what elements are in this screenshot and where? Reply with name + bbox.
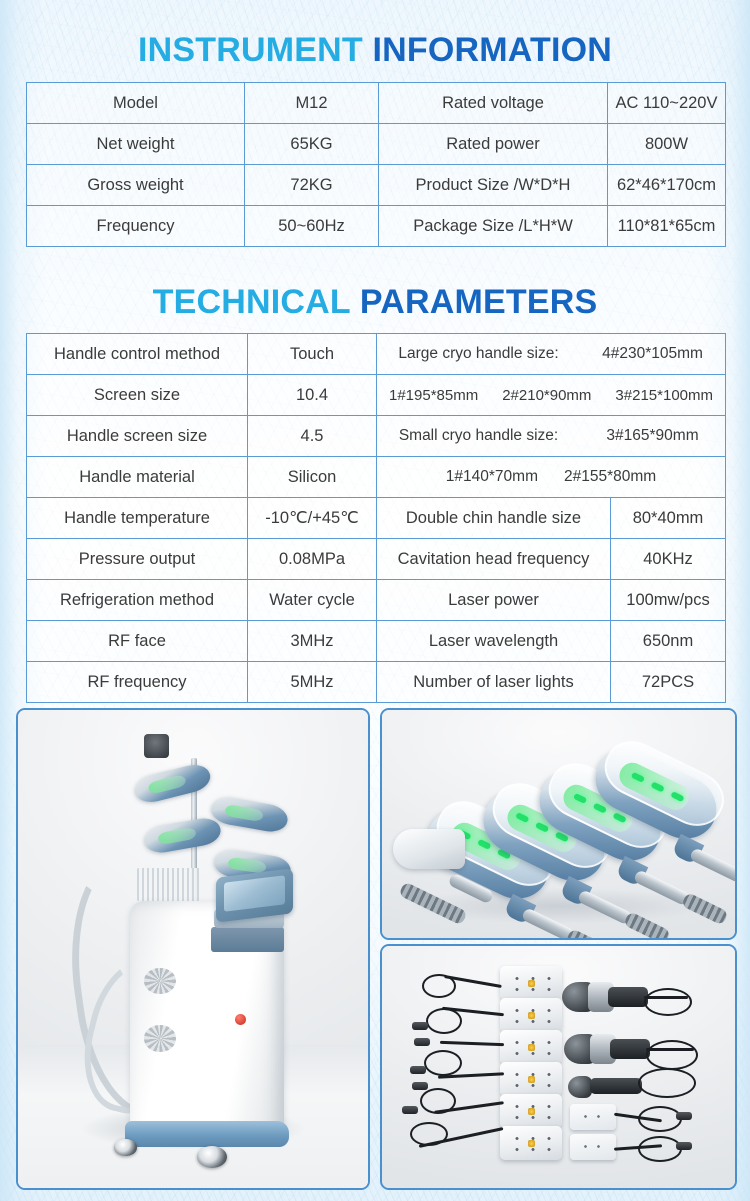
cavitation-probe-grip <box>608 987 648 1007</box>
tech-value-refrigeration-method: Water cycle <box>248 580 377 621</box>
tech-value-large-cryo-handle-size: 4#230*105mm <box>580 345 725 363</box>
tech-value-handle-material: Silicon <box>248 457 377 498</box>
instrument-value-frequency: 50~60Hz <box>245 206 379 247</box>
table-row: Handle screen size 4.5 Small cryo handle… <box>27 416 726 457</box>
tech-value-laser-wavelength: 650nm <box>611 621 726 662</box>
tech-large-cryo-size-1: 1#195*85mm <box>389 387 478 404</box>
pad-cable-coil-3 <box>424 1050 462 1076</box>
instrument-label-gross-weight: Gross weight <box>27 165 245 206</box>
tech-value-handle-temperature: -10℃/+45℃ <box>248 498 377 539</box>
pad-plug-3 <box>410 1066 426 1074</box>
instrument-value-gross-weight: 72KG <box>245 165 379 206</box>
tech-label-handle-material: Handle material <box>27 457 248 498</box>
lipo-laser-pad-4 <box>500 1062 562 1096</box>
rf-probe-grip <box>610 1039 650 1059</box>
small-probe-grip <box>590 1078 642 1094</box>
machine-front-panel <box>211 927 285 952</box>
tech-small-cryo-size-2: 2#155*80mm <box>564 468 656 486</box>
heading-word-secondary: PARAMETERS <box>360 283 598 321</box>
accessories-photo <box>380 944 737 1190</box>
table-row: Handle temperature -10℃/+45℃ Double chin… <box>27 498 726 539</box>
tech-value-double-chin-handle-size: 80*40mm <box>611 498 726 539</box>
instrument-label-package-size: Package Size /L*H*W <box>379 206 608 247</box>
small-pad-cable-coil-2 <box>638 1136 682 1162</box>
tech-label-laser-power: Laser power <box>377 580 611 621</box>
pad-plug-2 <box>414 1038 430 1046</box>
table-row: Refrigeration method Water cycle Laser p… <box>27 580 726 621</box>
tech-label-screen-size: Screen size <box>27 375 248 416</box>
tech-value-screen-size: 10.4 <box>248 375 377 416</box>
machine-screen-glass <box>223 875 285 912</box>
instrument-label-model: Model <box>27 83 245 124</box>
tech-label-small-cryo-handle-size: Small cryo handle size: <box>377 427 580 445</box>
table-row: Pressure output 0.08MPa Cavitation head … <box>27 539 726 580</box>
instrument-value-model: M12 <box>245 83 379 124</box>
tech-value-laser-power: 100mw/pcs <box>611 580 726 621</box>
small-pad-plug-1 <box>676 1112 692 1120</box>
lipo-laser-pad-1 <box>500 966 562 1000</box>
tech-value-handle-control-method: Touch <box>248 334 377 375</box>
pad-plug-1 <box>412 1022 428 1030</box>
machine-caster-front <box>197 1146 227 1168</box>
instrument-label-product-size: Product Size /W*D*H <box>379 165 608 206</box>
pad-cable-coil-5 <box>410 1122 448 1146</box>
instrument-label-net-weight: Net weight <box>27 124 245 165</box>
tech-value-pressure-output: 0.08MPa <box>248 539 377 580</box>
pad-cable-coil-4 <box>420 1088 456 1114</box>
machine-emergency-button <box>235 1014 246 1025</box>
machine-photo <box>16 708 370 1190</box>
instrument-information-table: Model M12 Rated voltage AC 110~220V Net … <box>26 82 726 247</box>
tech-label-pressure-output: Pressure output <box>27 539 248 580</box>
technical-parameters-table: Handle control method Touch Large cryo h… <box>26 333 726 703</box>
machine-touchscreen <box>216 868 293 923</box>
machine-vent-upper <box>144 968 176 994</box>
pad-plug-5 <box>402 1106 418 1114</box>
table-row: Screen size 10.4 1#195*85mm 2#210*90mm 3… <box>27 375 726 416</box>
lipo-laser-pad-3 <box>500 1030 562 1064</box>
tech-small-cryo-handle-size: Small cryo handle size: 3#165*90mm <box>377 416 726 457</box>
rf-probe-cable-coil <box>646 1040 698 1070</box>
tech-value-handle-screen-size: 4.5 <box>248 416 377 457</box>
instrument-label-rated-voltage: Rated voltage <box>379 83 608 124</box>
table-row: Gross weight 72KG Product Size /W*D*H 62… <box>27 165 726 206</box>
tech-value-rf-face: 3MHz <box>248 621 377 662</box>
table-row: Handle material Silicon 1#140*70mm 2#155… <box>27 457 726 498</box>
tech-value-rf-frequency: 5MHz <box>248 662 377 703</box>
tech-value-number-of-laser-lights: 72PCS <box>611 662 726 703</box>
instrument-value-net-weight: 65KG <box>245 124 379 165</box>
tech-small-cryo-handle-sizes-list: 1#140*70mm 2#155*80mm <box>377 457 726 498</box>
tech-large-cryo-handle-sizes-list: 1#195*85mm 2#210*90mm 3#215*100mm <box>377 375 726 416</box>
pad-plug-4 <box>412 1082 428 1090</box>
tech-label-handle-control-method: Handle control method <box>27 334 248 375</box>
instrument-value-rated-power: 800W <box>608 124 726 165</box>
tech-value-small-cryo-handle-size: 3#165*90mm <box>580 427 725 445</box>
instrument-label-frequency: Frequency <box>27 206 245 247</box>
small-probe-cable-coil <box>638 1068 696 1098</box>
small-pad-plug-2 <box>676 1142 692 1150</box>
instrument-label-rated-power: Rated power <box>379 124 608 165</box>
cryo-handle-4-cable <box>735 869 737 901</box>
lipo-laser-pad-5 <box>500 1094 562 1128</box>
lipo-laser-pad-2 <box>500 998 562 1032</box>
machine-base <box>125 1121 290 1148</box>
small-pad-1 <box>570 1104 616 1130</box>
tech-label-cavitation-head-frequency: Cavitation head frequency <box>377 539 611 580</box>
tech-value-cavitation-head-frequency: 40KHz <box>611 539 726 580</box>
cavitation-probe-cable-coil <box>644 988 692 1016</box>
table-row: RF frequency 5MHz Number of laser lights… <box>27 662 726 703</box>
table-row: Frequency 50~60Hz Package Size /L*H*W 11… <box>27 206 726 247</box>
heading-word-primary: TECHNICAL <box>153 283 351 321</box>
tech-label-double-chin-handle-size: Double chin handle size <box>377 498 611 539</box>
tech-label-rf-face: RF face <box>27 621 248 662</box>
small-pad-2 <box>570 1134 616 1160</box>
heading-word-primary: INSTRUMENT <box>138 31 363 69</box>
tech-label-number-of-laser-lights: Number of laser lights <box>377 662 611 703</box>
pad-cable-coil-2 <box>426 1008 462 1034</box>
tech-small-cryo-size-1: 1#140*70mm <box>446 468 538 486</box>
machine-vent-lower <box>144 1025 176 1051</box>
tech-label-rf-frequency: RF frequency <box>27 662 248 703</box>
white-handle-head <box>393 829 465 869</box>
handles-photo <box>380 708 737 940</box>
lipo-laser-pad-6 <box>500 1126 562 1160</box>
table-row: Net weight 65KG Rated power 800W <box>27 124 726 165</box>
tech-large-cryo-handle-size: Large cryo handle size: 4#230*105mm <box>377 334 726 375</box>
technical-parameters-heading: TECHNICAL PARAMETERS <box>0 285 750 319</box>
small-pad-cable-coil-1 <box>638 1106 682 1132</box>
tech-label-handle-temperature: Handle temperature <box>27 498 248 539</box>
tech-label-handle-screen-size: Handle screen size <box>27 416 248 457</box>
instrument-value-package-size: 110*81*65cm <box>608 206 726 247</box>
tech-label-refrigeration-method: Refrigeration method <box>27 580 248 621</box>
heading-word-secondary: INFORMATION <box>373 31 613 69</box>
instrument-value-product-size: 62*46*170cm <box>608 165 726 206</box>
table-row: Model M12 Rated voltage AC 110~220V <box>27 83 726 124</box>
instrument-value-rated-voltage: AC 110~220V <box>608 83 726 124</box>
machine-top-probe <box>144 734 169 758</box>
pad-cable-coil-1 <box>422 974 456 998</box>
instrument-information-heading: INSTRUMENT INFORMATION <box>0 33 750 67</box>
table-row: RF face 3MHz Laser wavelength 650nm <box>27 621 726 662</box>
tech-label-laser-wavelength: Laser wavelength <box>377 621 611 662</box>
small-probe-head <box>568 1076 592 1098</box>
tech-label-large-cryo-handle-size: Large cryo handle size: <box>377 345 580 363</box>
table-row: Handle control method Touch Large cryo h… <box>27 334 726 375</box>
tech-large-cryo-size-3: 3#215*100mm <box>615 387 713 404</box>
machine-caster-left <box>114 1139 136 1155</box>
tech-large-cryo-size-2: 2#210*90mm <box>502 387 591 404</box>
